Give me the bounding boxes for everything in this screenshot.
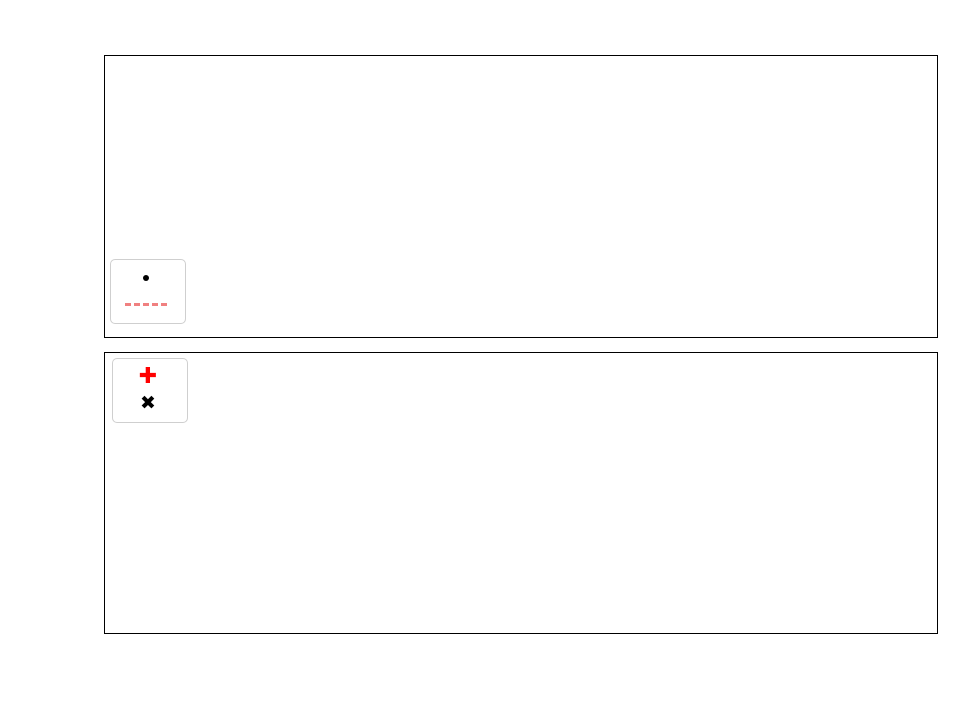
legend-item-measurements bbox=[120, 265, 176, 291]
bottom-panel-axes bbox=[104, 352, 938, 634]
top-panel-axes bbox=[104, 55, 938, 338]
legend-item-predicted-stars: ✖ bbox=[122, 390, 178, 416]
dot-marker-icon bbox=[120, 275, 172, 281]
plus-marker-icon: ✚ bbox=[122, 366, 174, 388]
legend-item-matched-stars: ✚ bbox=[122, 364, 178, 390]
top-panel-legend bbox=[110, 259, 186, 324]
legend-item-threshold bbox=[120, 291, 176, 317]
bottom-panel-legend: ✚ ✖ bbox=[112, 358, 188, 423]
cross-marker-icon: ✖ bbox=[122, 394, 174, 413]
dashed-line-marker-icon bbox=[120, 303, 172, 306]
top-panel-plot-area bbox=[105, 56, 939, 339]
figure-canvas: ✚ ✖ bbox=[0, 0, 960, 720]
bottom-panel-plot-area bbox=[105, 353, 939, 635]
